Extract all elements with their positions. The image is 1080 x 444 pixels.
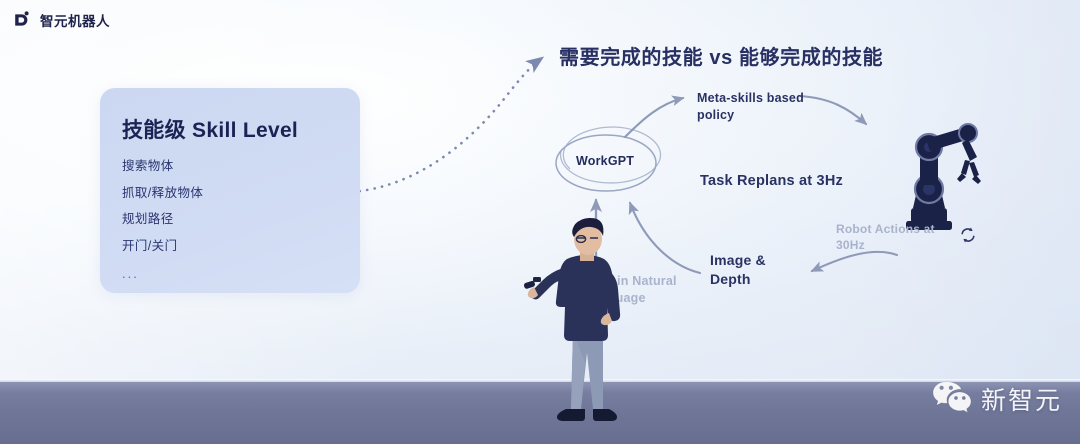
refresh-loop-icon xyxy=(958,225,978,250)
presenter-person-icon xyxy=(523,213,653,444)
dotted-curved-arrow-icon xyxy=(352,58,542,192)
label-meta-line1: Meta-skills based xyxy=(697,90,804,107)
label-robot-actions: Robot Actions at 30Hz xyxy=(836,221,935,253)
brand-logo: 智元机器人 xyxy=(12,9,110,30)
skill-card-title: 技能级 Skill Level xyxy=(122,114,360,144)
label-image-depth: Image & Depth xyxy=(710,251,766,288)
zhiyuan-d-mark-icon xyxy=(12,9,33,30)
label-robot-line2: 30Hz xyxy=(836,237,935,253)
skill-item-path-planning: 规划路径 xyxy=(122,213,360,226)
brand-name: 智元机器人 xyxy=(40,10,110,30)
label-image-line2: Depth xyxy=(710,270,766,289)
label-robot-line1: Robot Actions at xyxy=(836,221,935,237)
arrow-policy-to-robot xyxy=(800,96,866,124)
slide-headline: 需要完成的技能 vs 能够完成的技能 xyxy=(559,41,883,70)
watermark: 新智元 xyxy=(932,380,1062,418)
label-meta-line2: policy xyxy=(697,107,804,124)
arrow-robot-to-image-depth xyxy=(812,252,897,271)
arrow-workgpt-to-policy xyxy=(625,98,683,137)
skill-item-search: 搜索物体 xyxy=(122,160,360,173)
node-label-workgpt: WorkGPT xyxy=(576,153,634,170)
label-meta-skills-policy: Meta-skills based policy xyxy=(697,90,804,123)
slide-scene: 智元机器人 技能级 Skill Level 搜索物体 抓取/释放物体 规划路径 … xyxy=(0,0,1080,444)
label-task-replans: Task Replans at 3Hz xyxy=(700,172,843,191)
skill-item-grasp-release: 抓取/释放物体 xyxy=(122,187,360,200)
skill-level-card: 技能级 Skill Level 搜索物体 抓取/释放物体 规划路径 开门/关门 … xyxy=(100,88,360,293)
skill-item-open-close-door: 开门/关门 xyxy=(122,240,360,253)
watermark-text: 新智元 xyxy=(981,381,1062,417)
skill-item-more: ... xyxy=(122,266,360,281)
label-image-line1: Image & xyxy=(710,251,766,270)
wechat-icon xyxy=(932,380,972,418)
